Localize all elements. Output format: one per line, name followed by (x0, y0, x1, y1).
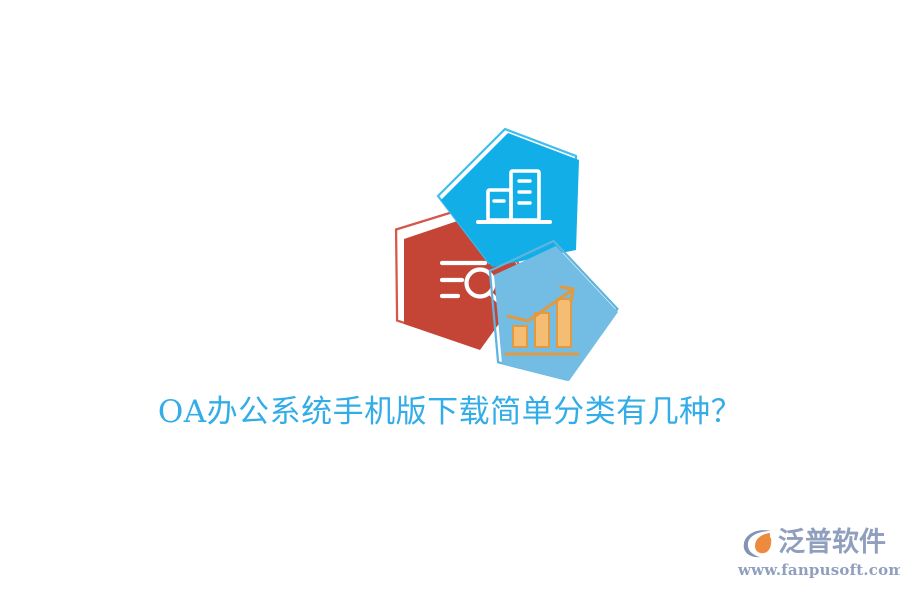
page-canvas: OA办公系统手机版下载简单分类有几种？ 泛普软件 www.fanpusoft.c… (0, 0, 900, 600)
watermark-logo: 泛普软件 www.fanpusoft.com (738, 526, 886, 588)
fanpu-logo-icon (741, 527, 775, 559)
page-title: OA办公系统手机版下载简单分类有几种？ (0, 392, 900, 432)
watermark-brand-name: 泛普软件 (778, 528, 886, 558)
pentagon-cluster-graphic (280, 100, 620, 400)
pentagon-chart (490, 241, 618, 381)
watermark-logo-row: 泛普软件 (738, 526, 886, 560)
watermark-url: www.fanpusoft.com (738, 561, 886, 580)
